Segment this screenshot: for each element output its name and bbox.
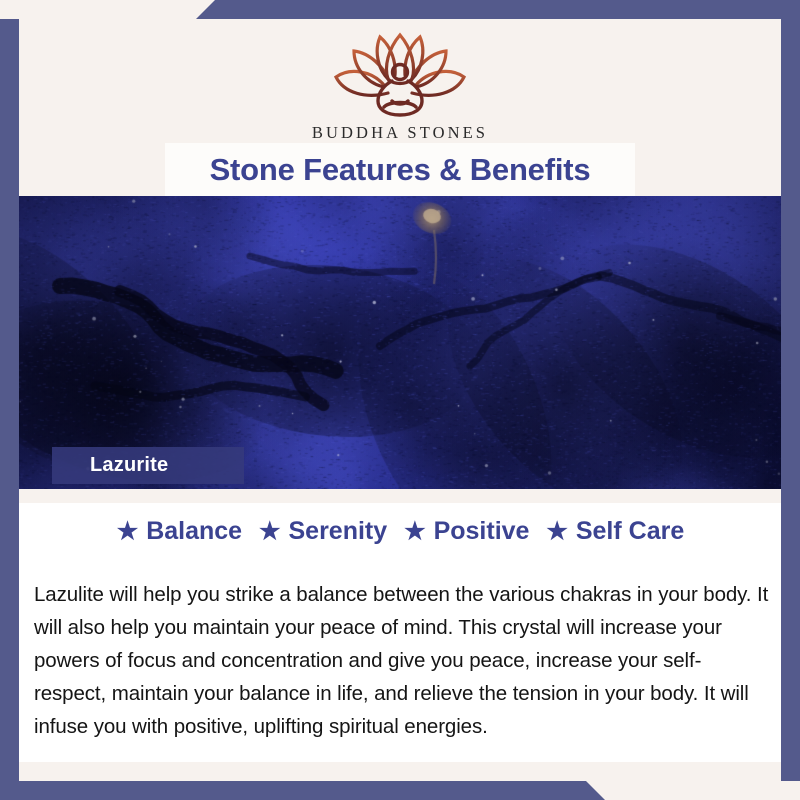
content-card: ★ Balance ★ Serenity ★ Positive ★ Self C… xyxy=(19,489,781,762)
keyword-self-care: Self Care xyxy=(569,517,684,545)
star-icon: ★ xyxy=(258,518,282,545)
star-icon: ★ xyxy=(116,518,140,545)
lotus-meditation-figure-icon xyxy=(326,27,474,121)
frame-top-band xyxy=(0,0,800,19)
page-title: Stone Features & Benefits xyxy=(210,152,591,188)
star-icon: ★ xyxy=(403,518,427,545)
title-plate: Stone Features & Benefits xyxy=(165,143,635,196)
keyword-positive: Positive xyxy=(427,517,546,545)
keyword-serenity: Serenity xyxy=(282,517,404,545)
brand-name: BUDDHA STONES xyxy=(312,123,488,143)
hero-stone-image xyxy=(0,196,800,489)
frame-left-band xyxy=(0,0,19,800)
stone-name-label: Lazurite xyxy=(90,454,168,477)
stone-description: Lazulite will help you strike a balance … xyxy=(34,578,770,743)
content-top-strip xyxy=(19,489,781,503)
frame-corner-mask-bottom-right xyxy=(781,781,800,800)
star-icon: ★ xyxy=(545,518,569,545)
brand-logo: BUDDHA STONES xyxy=(19,27,781,143)
frame-corner-mask-top-left xyxy=(0,0,19,19)
stone-texture-canvas xyxy=(0,196,800,489)
infographic-page: BUDDHA STONES Stone Features & Benefits … xyxy=(0,0,800,800)
keyword-list: ★ Balance ★ Serenity ★ Positive ★ Self C… xyxy=(19,517,781,546)
keyword-balance: Balance xyxy=(139,517,258,545)
frame-bottom-band xyxy=(0,781,800,800)
frame-right-band xyxy=(781,0,800,800)
stone-name-tag: Lazurite xyxy=(52,447,244,484)
